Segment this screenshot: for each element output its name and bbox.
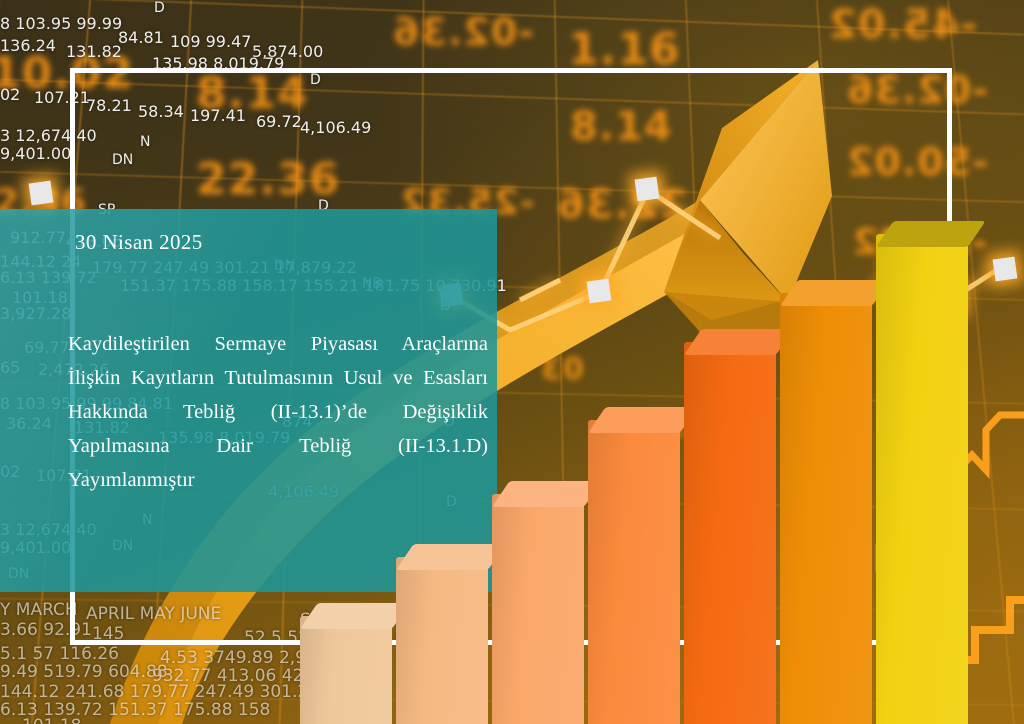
ticker-number: 101.18 — [22, 716, 81, 724]
ticker-number: 84.81 — [118, 28, 164, 47]
bar-chart-bar — [396, 557, 488, 724]
bar-chart-bar — [780, 293, 872, 724]
bar-face — [396, 557, 488, 724]
bar-top-face — [396, 544, 506, 570]
bar-face — [588, 420, 680, 724]
ticker-number: Y MARCH — [0, 600, 78, 620]
ticker-number: 136.24 — [0, 36, 56, 55]
ticker-number: 131.82 — [66, 42, 122, 61]
bar-top-face — [876, 221, 986, 247]
publication-date: 30 Nisan 2025 — [75, 230, 203, 255]
ticker-number: 8 103.95 99.99 — [0, 14, 122, 33]
bar-chart-bar — [300, 616, 392, 724]
bar-face — [780, 293, 872, 724]
bar-face — [684, 342, 776, 724]
bar-chart-bar — [876, 234, 968, 724]
bar-top-face — [588, 407, 698, 433]
bar-face — [300, 616, 392, 724]
content-panel: 30 Nisan 2025 Kaydileştirilen Sermaye Pi… — [0, 209, 497, 592]
bar-top-face — [300, 603, 410, 629]
ticker-number: 109 99.47 — [170, 32, 251, 51]
bar-top-face — [684, 329, 794, 355]
bar-top-face — [492, 481, 602, 507]
ticker-number: 4.53 3749.89 2,9 — [160, 648, 306, 668]
bar-top-face — [780, 280, 890, 306]
bar-chart-bar — [588, 420, 680, 724]
ticker-number: D — [154, 0, 165, 16]
headline-text: Kaydileştirilen Sermaye Piyasası Araçlar… — [68, 327, 488, 497]
bar-face — [876, 234, 968, 724]
bar-chart-bar — [492, 494, 584, 724]
announcement-card: 1.16-45.02-02.3610.028.148.14-02.3622.36… — [0, 0, 1024, 724]
bar-face — [492, 494, 584, 724]
ticker-number: 5.1 57 116.26 — [0, 644, 119, 664]
bar-chart-bar — [684, 342, 776, 724]
ticker-number: 9.49 519.79 604.88 — [0, 662, 168, 682]
ticker-number: 02 — [0, 85, 20, 104]
ticker-number: 9,401.00 — [0, 144, 71, 163]
